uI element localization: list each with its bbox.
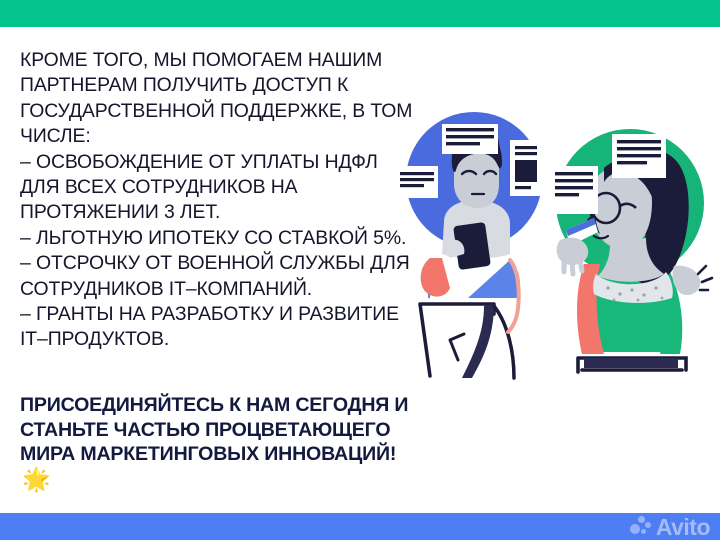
avito-watermark-label: Avito bbox=[656, 516, 710, 538]
body-line: – ОТСРОЧКУ ОТ ВОЕННОЙ СЛУЖБЫ ДЛЯ bbox=[20, 251, 450, 276]
body-line: IT–ПРОДУКТОВ. bbox=[20, 327, 450, 352]
document-card bbox=[510, 140, 542, 196]
figure-woman bbox=[550, 129, 712, 372]
promo-slide: КРОМЕ ТОГО, МЫ ПОМОГАЕМ НАШИМ ПАРТНЕРАМ … bbox=[0, 0, 720, 540]
body-line: – ГРАНТЫ НА РАЗРАБОТКУ И РАЗВИТИЕ bbox=[20, 302, 450, 327]
star-icon: 🌟 bbox=[22, 468, 51, 491]
avito-watermark: Avito bbox=[630, 516, 710, 538]
body-line: КРОМЕ ТОГО, МЫ ПОМОГАЕМ НАШИМ bbox=[20, 48, 450, 73]
top-accent-bar bbox=[0, 0, 720, 27]
body-line: СОТРУДНИКОВ IT–КОМПАНИЙ. bbox=[20, 277, 450, 302]
body-line: ДЛЯ ВСЕХ СОТРУДНИКОВ НА bbox=[20, 175, 450, 200]
document-card bbox=[550, 166, 598, 214]
body-line: ГОСУДАРСТВЕННОЙ ПОДДЕРЖКЕ, В ТОМ bbox=[20, 99, 450, 124]
body-line: ЧИСЛЕ: bbox=[20, 124, 450, 149]
document-card bbox=[612, 134, 666, 178]
document-card bbox=[398, 166, 438, 198]
illustration bbox=[398, 108, 720, 408]
body-line: ПРОТЯЖЕНИИ 3 ЛЕТ. bbox=[20, 200, 450, 225]
body-line: – ОСВОБОЖДЕНИЕ ОТ УПЛАТЫ НДФЛ bbox=[20, 150, 450, 175]
body-line: – ЛЬГОТНУЮ ИПОТЕКУ СО СТАВКОЙ 5%. bbox=[20, 226, 450, 251]
avito-dots-logo-icon bbox=[630, 516, 652, 538]
body-line: ПАРТНЕРАМ ПОЛУЧИТЬ ДОСТУП К bbox=[20, 73, 450, 98]
bottom-accent-bar bbox=[0, 513, 720, 540]
document-card bbox=[442, 124, 498, 154]
cta-line: СТАНЬТЕ ЧАСТЬЮ ПРОЦВЕТАЮЩЕГО bbox=[20, 418, 490, 443]
body-copy-block: КРОМЕ ТОГО, МЫ ПОМОГАЕМ НАШИМ ПАРТНЕРАМ … bbox=[20, 48, 450, 353]
cta-line: МИРА МАРКЕТИНГОВЫХ ИННОВАЦИЙ! bbox=[20, 442, 490, 467]
figure-man bbox=[398, 112, 542, 378]
